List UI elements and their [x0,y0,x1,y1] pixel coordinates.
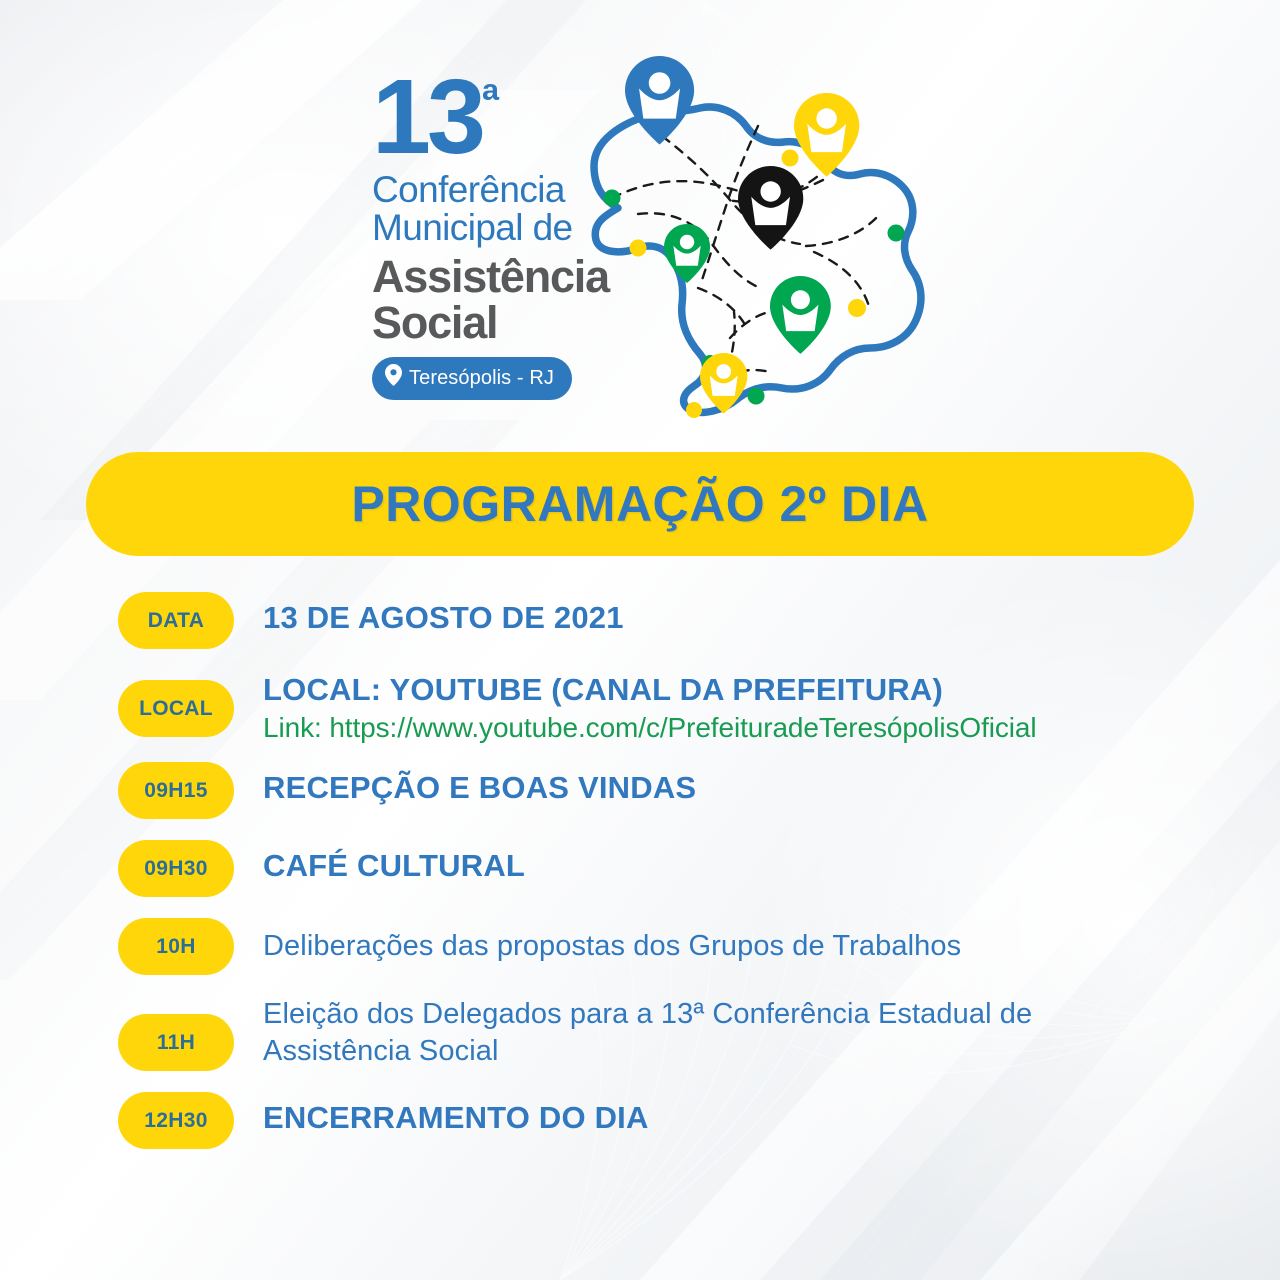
schedule-list: DATA 13 DE AGOSTO DE 2021 LOCAL LOCAL: Y… [118,592,1208,1170]
schedule-row-1230: 12H30 ENCERRAMENTO DO DIA [118,1092,1208,1149]
schedule-title: Deliberações das propostas dos Grupos de… [263,928,961,965]
location-pin-icon [385,364,402,392]
schedule-content: LOCAL: YOUTUBE (CANAL DA PREFEITURA) Lin… [234,670,1037,744]
youtube-link[interactable]: Link: https://www.youtube.com/c/Prefeitu… [263,711,1037,745]
schedule-row-0915: 09H15 RECEPÇÃO E BOAS VINDAS [118,762,1208,819]
schedule-pill: LOCAL [118,680,234,737]
schedule-row-10h: 10H Deliberações das propostas dos Grupo… [118,918,1208,975]
schedule-content: ENCERRAMENTO DO DIA [234,1092,649,1137]
banner-title: PROGRAMAÇÃO 2º DIA [351,475,928,533]
schedule-pill: 09H15 [118,762,234,819]
programacao-banner: PROGRAMAÇÃO 2º DIA [86,452,1194,556]
schedule-title: 13 DE AGOSTO DE 2021 [263,600,624,637]
schedule-content: 13 DE AGOSTO DE 2021 [234,592,624,637]
schedule-pill: 10H [118,918,234,975]
poster-canvas: 13ª Conferência Municipal de Assistência… [0,0,1280,1280]
schedule-pill: 09H30 [118,840,234,897]
schedule-title: RECEPÇÃO E BOAS VINDAS [263,770,696,807]
brazil-network-map [578,48,968,423]
schedule-pill: 11H [118,1014,234,1071]
schedule-content: CAFÉ CULTURAL [234,840,525,885]
schedule-row-0930: 09H30 CAFÉ CULTURAL [118,840,1208,897]
schedule-content: RECEPÇÃO E BOAS VINDAS [234,762,696,807]
schedule-row-11h: 11H Eleição dos Delegados para a 13ª Con… [118,996,1208,1071]
schedule-content: Deliberações das propostas dos Grupos de… [234,918,961,965]
city-badge: Teresópolis - RJ [372,357,572,400]
map-person-pins [625,56,859,414]
schedule-title: CAFÉ CULTURAL [263,848,525,885]
edition-ordinal-text: ª [482,74,498,127]
city-badge-label: Teresópolis - RJ [409,367,554,390]
schedule-pill: 12H30 [118,1092,234,1149]
schedule-row-data: DATA 13 DE AGOSTO DE 2021 [118,592,1208,649]
schedule-title: Eleição dos Delegados para a 13ª Conferê… [263,996,1093,1070]
schedule-row-local: LOCAL LOCAL: YOUTUBE (CANAL DA PREFEITUR… [118,670,1208,744]
edition-number-text: 13 [372,58,482,176]
schedule-title: LOCAL: YOUTUBE (CANAL DA PREFEITURA) [263,672,1037,709]
schedule-title: ENCERRAMENTO DO DIA [263,1100,649,1137]
schedule-content: Eleição dos Delegados para a 13ª Conferê… [234,996,1093,1070]
schedule-pill: DATA [118,592,234,649]
